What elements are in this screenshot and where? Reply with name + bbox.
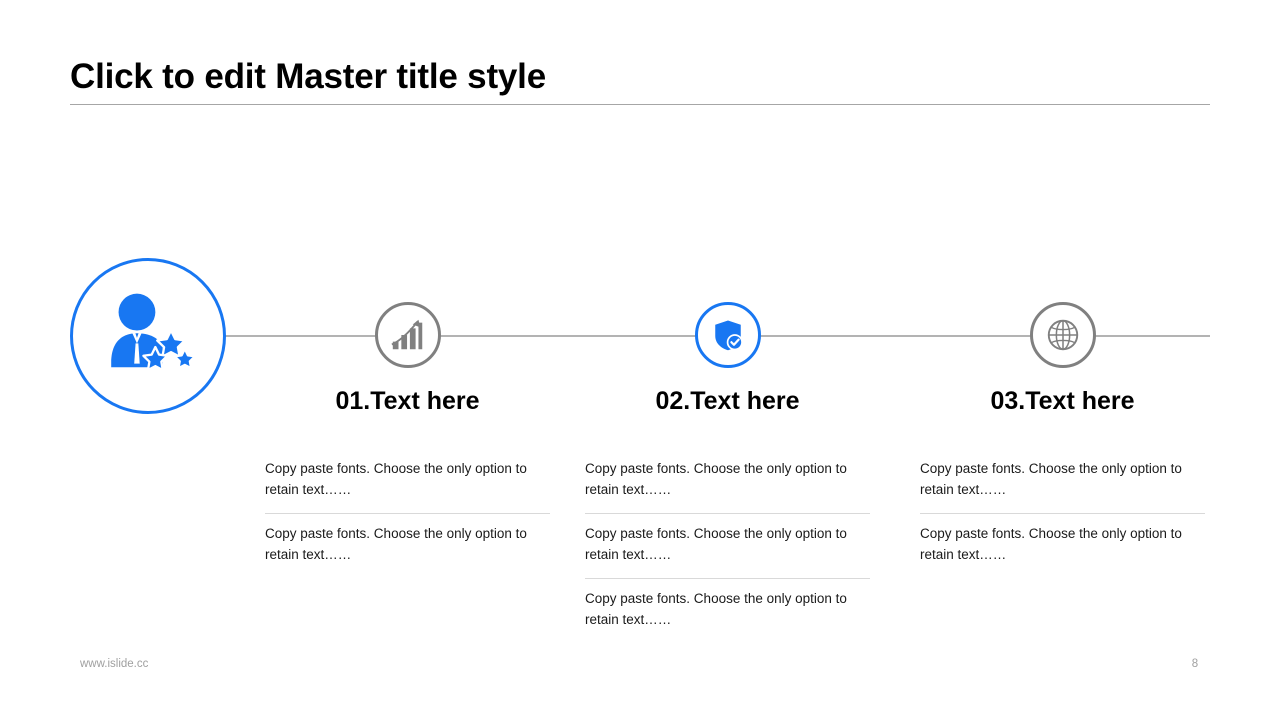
page-title: Click to edit Master title style xyxy=(70,55,1210,99)
column-2-text-block-2[interactable]: Copy paste fonts. Choose the only option… xyxy=(585,514,870,578)
column-1-text-block-1[interactable]: Copy paste fonts. Choose the only option… xyxy=(265,449,550,513)
bar-chart-growth-icon xyxy=(389,316,427,354)
column-1-text-block-2[interactable]: Copy paste fonts. Choose the only option… xyxy=(265,514,550,578)
step-icon-circle-1[interactable] xyxy=(375,302,441,368)
column-2-text-block-1[interactable]: Copy paste fonts. Choose the only option… xyxy=(585,449,870,513)
person-with-stars-icon xyxy=(102,290,194,382)
column-2-text-block-3[interactable]: Copy paste fonts. Choose the only option… xyxy=(585,579,870,643)
slide-page-number: 8 xyxy=(1180,658,1210,670)
column-heading-2: 02.Text here xyxy=(585,386,870,416)
step-icon-circle-3[interactable] xyxy=(1030,302,1096,368)
content-column-1: 01.Text here Copy paste fonts. Choose th… xyxy=(265,386,550,578)
column-3-text-block-2[interactable]: Copy paste fonts. Choose the only option… xyxy=(920,514,1205,578)
hero-icon-circle[interactable] xyxy=(70,258,226,414)
content-column-2: 02.Text here Copy paste fonts. Choose th… xyxy=(585,386,870,643)
content-column-3: 03.Text here Copy paste fonts. Choose th… xyxy=(920,386,1205,578)
step-icon-circle-2[interactable] xyxy=(695,302,761,368)
title-placeholder[interactable]: Click to edit Master title style xyxy=(70,55,1210,99)
title-underline-divider xyxy=(70,104,1210,105)
shield-check-icon xyxy=(711,318,745,352)
footer-url: www.islide.cc xyxy=(80,658,148,670)
column-heading-3: 03.Text here xyxy=(920,386,1205,416)
column-heading-1: 01.Text here xyxy=(265,386,550,416)
slide-canvas: Click to edit Master title style xyxy=(0,0,1280,720)
globe-icon xyxy=(1044,316,1082,354)
column-3-text-block-1[interactable]: Copy paste fonts. Choose the only option… xyxy=(920,449,1205,513)
